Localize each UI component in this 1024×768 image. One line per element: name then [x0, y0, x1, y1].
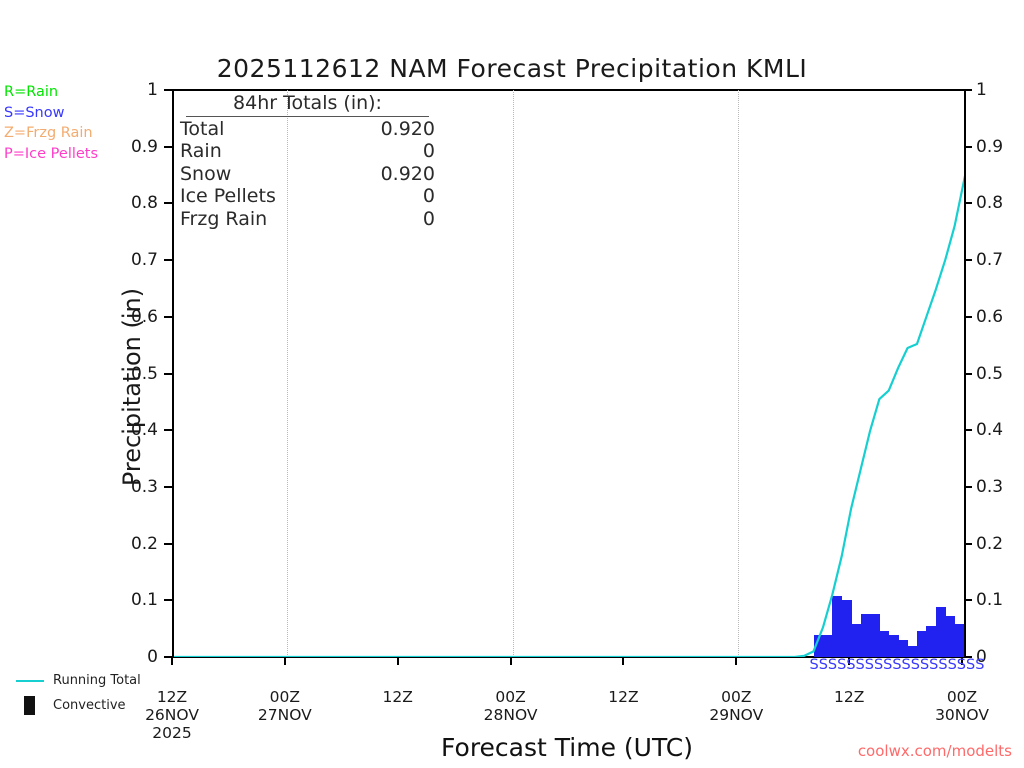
x-axis-label: 00Z28NOV	[484, 688, 538, 724]
y-axis-label-right: 0.2	[976, 534, 1003, 554]
page-title: 2025112612 NAM Forecast Precipitation KM…	[0, 54, 1024, 83]
x-label-date: 30NOV	[935, 706, 989, 724]
x-label-time: 00Z	[495, 688, 525, 706]
totals-box: 84hr Totals (in): Total0.920Rain0Snow0.9…	[180, 92, 435, 231]
y-tick-left	[164, 543, 172, 545]
chart-canvas: 2025112612 NAM Forecast Precipitation KM…	[0, 0, 1024, 768]
y-axis-label-left: 0.9	[0, 137, 158, 157]
legend-bar-swatch	[24, 696, 35, 715]
x-axis-title: Forecast Time (UTC)	[172, 733, 962, 762]
y-axis-label-right: 0.9	[976, 137, 1003, 157]
y-tick-right	[964, 543, 972, 545]
x-label-time: 00Z	[721, 688, 751, 706]
x-axis-label: 00Z30NOV	[935, 688, 989, 724]
x-axis-label: 12Z	[834, 688, 864, 706]
y-tick-left	[164, 202, 172, 204]
x-tick	[171, 658, 173, 665]
chart-legend: Running TotalConvective	[8, 668, 141, 718]
totals-row: Snow0.920	[180, 163, 435, 186]
x-tick	[510, 658, 512, 665]
totals-label: Total	[180, 118, 224, 141]
y-axis-label-left: 0.8	[0, 193, 158, 213]
y-axis-label-right: 1	[976, 80, 987, 100]
y-axis-label-right: 0.6	[976, 307, 1003, 327]
y-tick-right	[964, 146, 972, 148]
x-label-time: 00Z	[947, 688, 977, 706]
y-tick-right	[964, 259, 972, 261]
y-tick-left	[164, 599, 172, 601]
totals-value: 0	[423, 140, 435, 163]
x-axis-label: 00Z27NOV	[258, 688, 312, 724]
y-axis-label-right: 0.4	[976, 420, 1003, 440]
y-axis-label-left: 0	[0, 647, 158, 667]
y-tick-right	[964, 599, 972, 601]
x-axis-label: 12Z	[608, 688, 638, 706]
totals-header: 84hr Totals (in):	[186, 92, 429, 117]
x-label-time: 12Z	[157, 688, 187, 706]
totals-row: Ice Pellets0	[180, 185, 435, 208]
totals-label: Frzg Rain	[180, 208, 267, 231]
y-tick-left	[164, 373, 172, 375]
x-tick	[622, 658, 624, 665]
totals-value: 0.920	[381, 118, 435, 141]
x-label-time: 12Z	[834, 688, 864, 706]
legend-label: Running Total	[53, 673, 141, 688]
legend-item-1: Running Total	[8, 668, 141, 693]
y-tick-right	[964, 316, 972, 318]
totals-value: 0	[423, 185, 435, 208]
x-tick	[397, 658, 399, 665]
x-label-date: 28NOV	[484, 706, 538, 724]
x-label-date: 27NOV	[258, 706, 312, 724]
x-label-time: 12Z	[383, 688, 413, 706]
totals-rows: Total0.920Rain0Snow0.920Ice Pellets0Frzg…	[180, 118, 435, 231]
y-tick-right	[964, 373, 972, 375]
y-tick-right	[964, 202, 972, 204]
legend-item-2: Convective	[8, 693, 141, 718]
x-label-date: 29NOV	[709, 706, 763, 724]
totals-row: Frzg Rain0	[180, 208, 435, 231]
y-tick-right	[964, 429, 972, 431]
y-axis-label-left: 1	[0, 80, 158, 100]
y-tick-right	[964, 89, 972, 91]
x-tick	[735, 658, 737, 665]
x-label-time: 12Z	[608, 688, 638, 706]
totals-value: 0.920	[381, 163, 435, 186]
legend-label: Convective	[53, 698, 126, 713]
y-tick-right	[964, 486, 972, 488]
totals-label: Ice Pellets	[180, 185, 276, 208]
totals-label: Rain	[180, 140, 222, 163]
totals-label: Snow	[180, 163, 231, 186]
ptype-legend-item-2: S=Snow	[4, 103, 98, 124]
y-tick-left	[164, 316, 172, 318]
legend-line-swatch	[16, 680, 44, 682]
y-axis-label-right: 0.5	[976, 364, 1003, 384]
x-label-date: 26NOV	[145, 706, 199, 724]
y-axis-label-right: 0.3	[976, 477, 1003, 497]
y-axis-label-right: 0.1	[976, 590, 1003, 610]
y-tick-left	[164, 259, 172, 261]
y-tick-left	[164, 429, 172, 431]
credit-link[interactable]: coolwx.com/modelts	[858, 742, 1012, 760]
y-tick-left	[164, 486, 172, 488]
x-tick	[284, 658, 286, 665]
y-tick-left	[164, 146, 172, 148]
x-label-time: 00Z	[270, 688, 300, 706]
x-axis-label: 00Z29NOV	[709, 688, 763, 724]
y-axis-title: Precipitation (in)	[118, 237, 146, 537]
x-axis-label: 12Z	[383, 688, 413, 706]
y-axis-label-right: 0.8	[976, 193, 1003, 213]
y-axis-label-left: 0.1	[0, 590, 158, 610]
totals-value: 0	[423, 208, 435, 231]
totals-row: Total0.920	[180, 118, 435, 141]
y-tick-left	[164, 89, 172, 91]
totals-row: Rain0	[180, 140, 435, 163]
y-axis-label-right: 0.7	[976, 250, 1003, 270]
ptype-marker-row: SSSSSSSSSSSSSSSSSSS	[810, 656, 985, 674]
